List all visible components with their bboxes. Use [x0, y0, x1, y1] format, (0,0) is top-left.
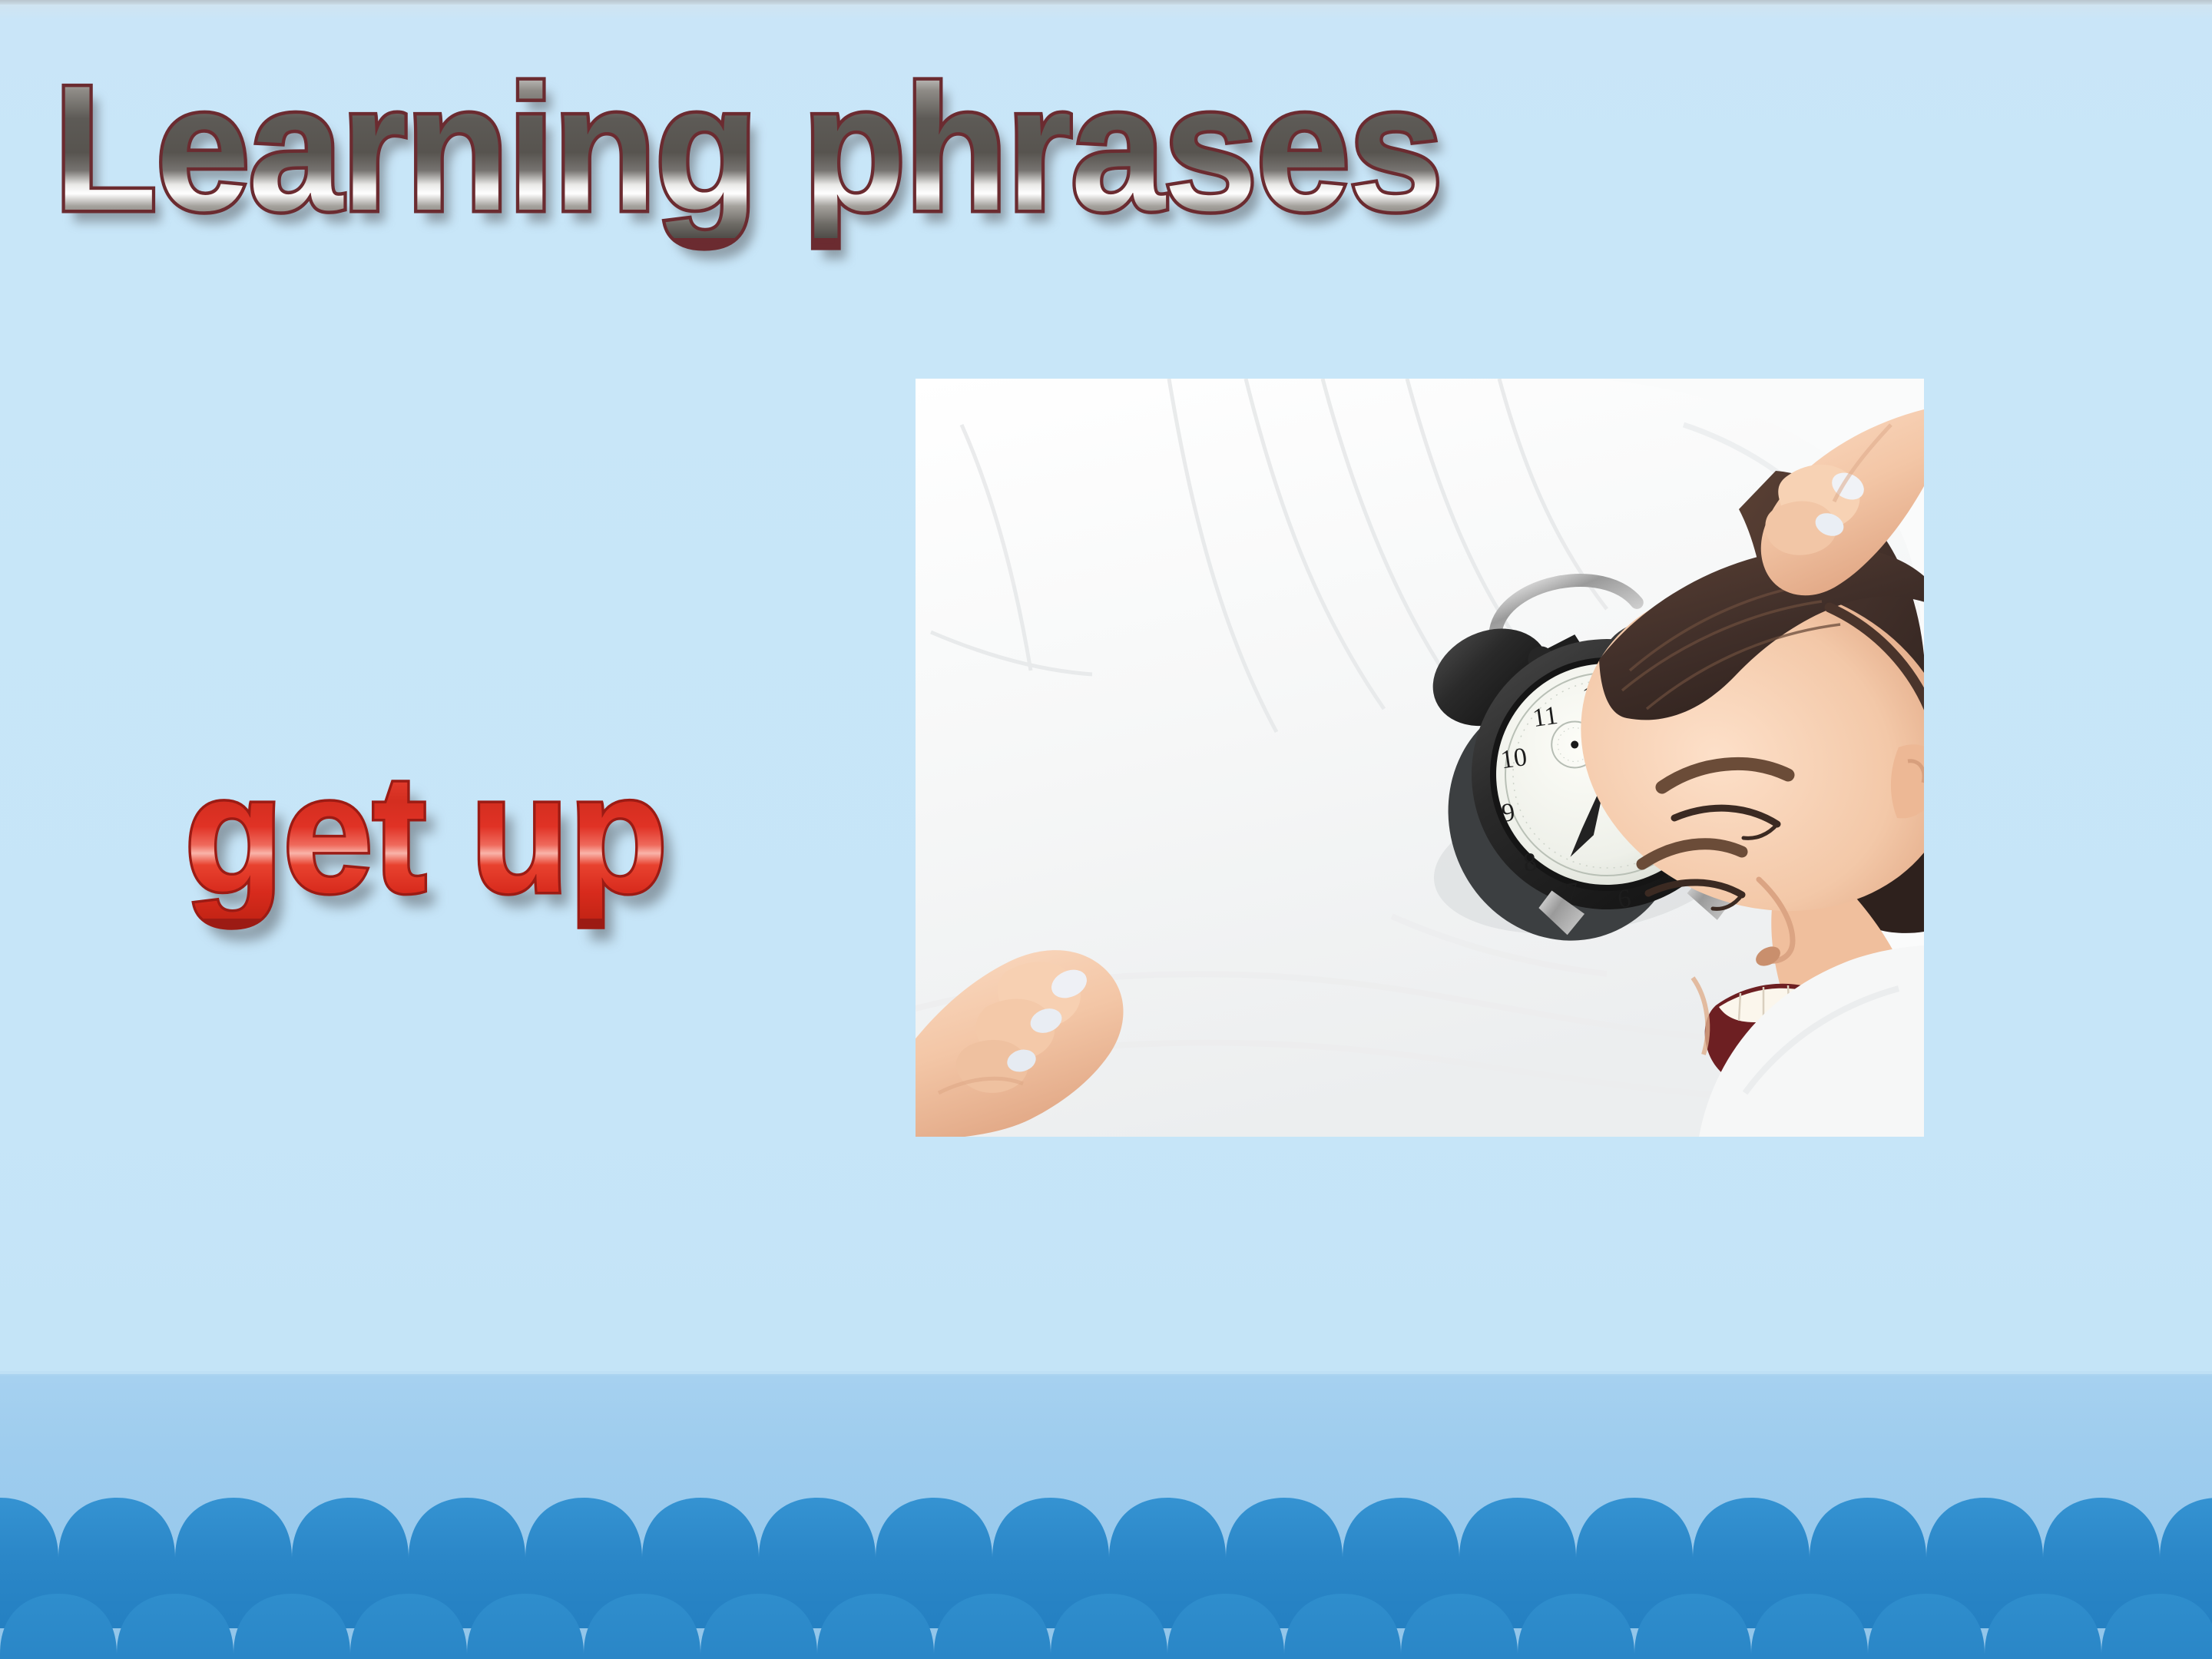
- svg-text:10: 10: [1499, 743, 1529, 774]
- slide-canvas: Learning phrases Learning phrases Learni…: [0, 0, 2212, 1659]
- bottom-decorative-band: [0, 1371, 2212, 1659]
- photo-woman-waking-up: 12 1 2 3 4 5 6 7 8 9 10 11: [916, 379, 1924, 1137]
- slide-title: Learning phrases Learning phrases Learni…: [54, 60, 1475, 237]
- title-fill-layer: Learning phrases: [54, 60, 1442, 238]
- svg-text:11: 11: [1531, 701, 1560, 733]
- phrase-fill-layer: get up: [184, 751, 667, 919]
- top-edge-strip: [0, 0, 2212, 5]
- phrase-text: get up get up get up: [184, 751, 722, 966]
- photo-illustration: 12 1 2 3 4 5 6 7 8 9 10 11: [916, 379, 1924, 1137]
- scallop-dome-pattern: [0, 1371, 2212, 1659]
